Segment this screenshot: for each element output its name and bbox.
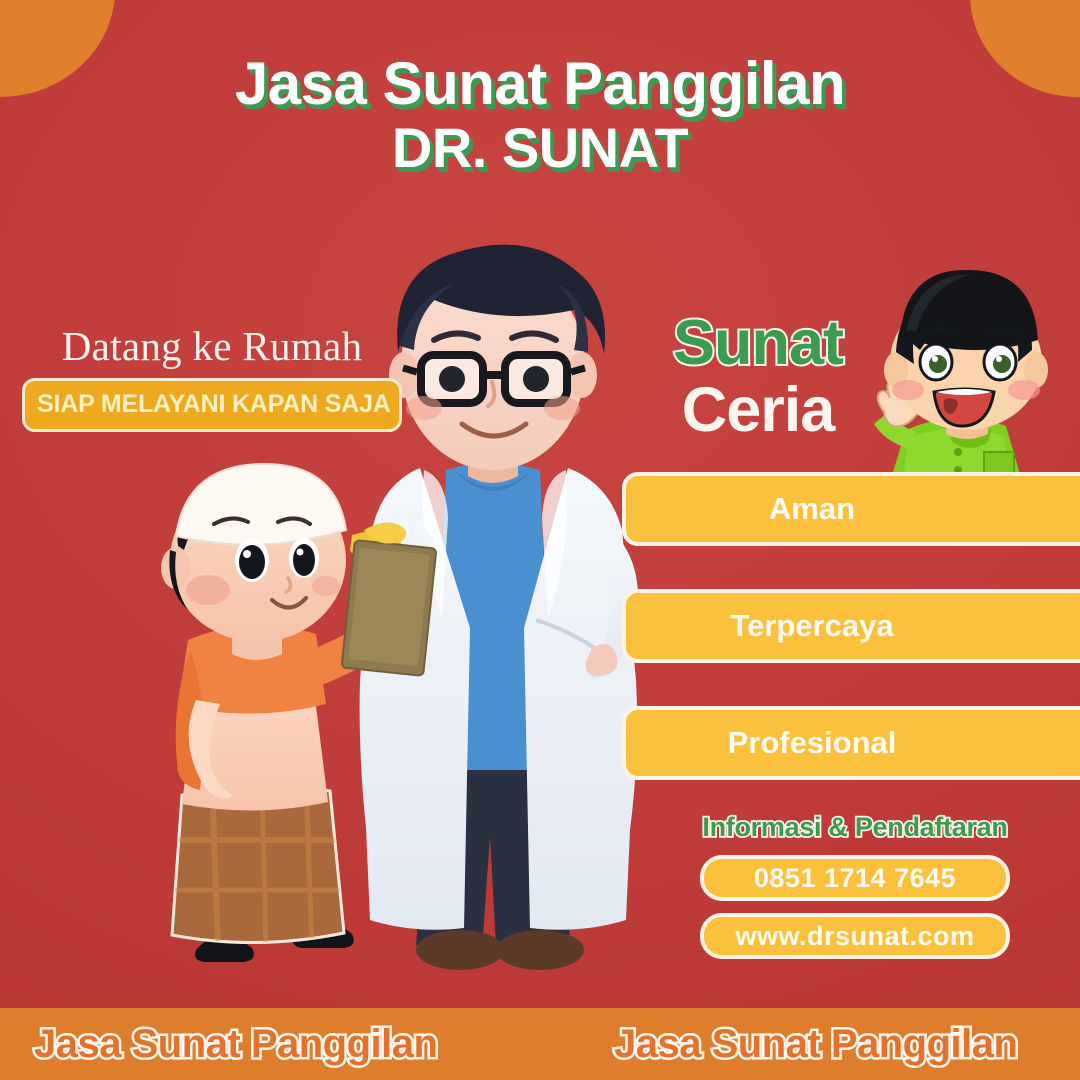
clipboard-illustration <box>342 522 437 675</box>
footer-text-right: Jasa Sunat Panggilan <box>614 1022 1017 1067</box>
brand-word-sunat: Sunat <box>628 312 888 375</box>
footer-band: Jasa Sunat Panggilan Jasa Sunat Panggila… <box>0 1008 1080 1080</box>
poster-heading: Jasa Sunat Panggilan DR. SUNAT <box>0 52 1080 177</box>
brand-word-ceria: Ceria <box>628 379 888 442</box>
footer-text-left: Jasa Sunat Panggilan <box>34 1022 437 1067</box>
tagline-datang-ke-rumah: Datang ke Rumah <box>22 325 402 368</box>
boy-patient-illustration <box>161 464 425 962</box>
contact-website-pill[interactable]: www.drsunat.com <box>700 913 1010 959</box>
mascot-illustration <box>874 270 1048 488</box>
feature-pill-profesional[interactable]: Profesional <box>622 706 1080 780</box>
feature-pill-aman[interactable]: Aman <box>622 472 1080 546</box>
badge-siap-melayani: SIAP MELAYANI KAPAN SAJA <box>22 378 402 432</box>
poster: Jasa Sunat Panggilan DR. SUNAT Datang ke… <box>0 0 1080 1080</box>
contact-phone-pill[interactable]: 0851 1714 7645 <box>700 855 1010 901</box>
contact-block: Informasi & Pendaftaran 0851 1714 7645 w… <box>630 812 1080 959</box>
heading-line-2: DR. SUNAT <box>0 118 1080 177</box>
left-copy-block: Datang ke Rumah SIAP MELAYANI KAPAN SAJA <box>22 325 402 432</box>
feature-list: Aman Terpercaya Profesional <box>622 472 1080 823</box>
contact-title: Informasi & Pendaftaran <box>630 812 1080 843</box>
brand-wordmark: Sunat Ceria <box>628 312 888 442</box>
feature-pill-terpercaya[interactable]: Terpercaya <box>622 589 1080 663</box>
glasses-icon <box>403 355 585 403</box>
heading-line-1: Jasa Sunat Panggilan <box>0 52 1080 116</box>
